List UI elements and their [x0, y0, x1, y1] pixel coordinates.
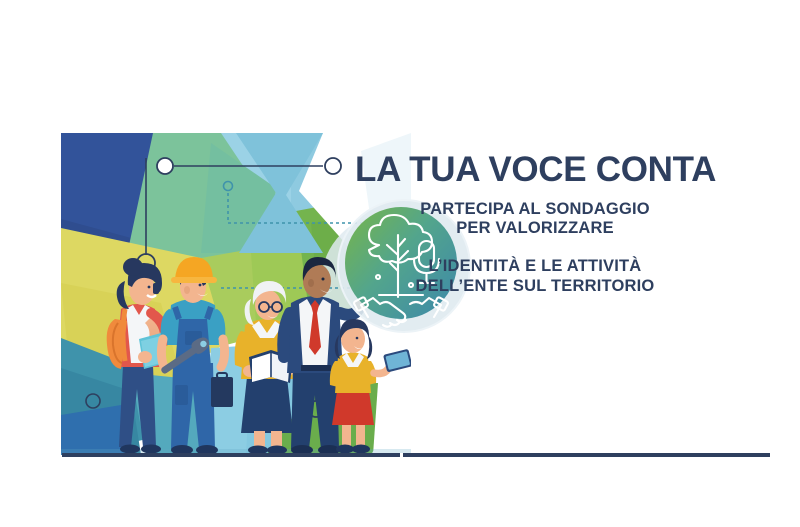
- subtitle-line-2: PER VALORIZZARE: [355, 219, 715, 239]
- page-title: LA TUA VOCE CONTA: [355, 152, 715, 188]
- subtitle-block-1: PARTECIPA AL SONDAGGIO PER VALORIZZARE: [355, 200, 715, 240]
- subtitle-line-4: DELL’ENTE SUL TERRITORIO: [355, 277, 715, 297]
- poster-canvas: LA TUA VOCE CONTA PARTECIPA AL SONDAGGIO…: [0, 0, 800, 527]
- subtitle-line-3: L’IDENTITÀ E LE ATTIVITÀ: [355, 257, 715, 277]
- baseline-rule-gap: [400, 453, 403, 457]
- subtitle-block-2: L’IDENTITÀ E LE ATTIVITÀ DELL’ENTE SUL T…: [355, 257, 715, 297]
- hero-text-block: LA TUA VOCE CONTA PARTECIPA AL SONDAGGIO…: [355, 152, 715, 297]
- subtitle-line-1: PARTECIPA AL SONDAGGIO: [355, 200, 715, 220]
- baseline-rule: [62, 453, 770, 457]
